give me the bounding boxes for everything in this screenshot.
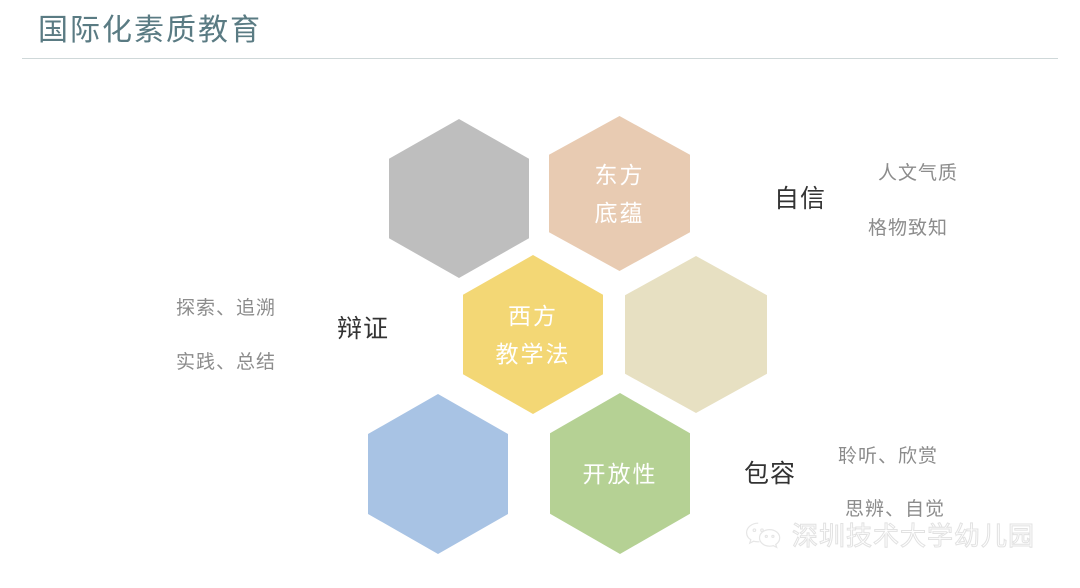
annotation-sub-listen-appreciate: 聆听、欣赏 — [838, 444, 938, 470]
hexagon-blue[interactable] — [368, 394, 508, 554]
annotation-sub-practice-summarize: 实践、总结 — [176, 350, 276, 376]
hexagon-label-line: 教学法 — [496, 335, 571, 373]
slide-canvas: 国际化素质教育 东方 底蕴 西方 教学法 开放性 自信 人文气质 格物致知 辩证… — [0, 0, 1080, 588]
annotation-sub-investigate-things: 格物致知 — [868, 216, 948, 242]
watermark: 深圳技术大学幼儿园 — [744, 519, 1035, 553]
hexagon-western-pedagogy[interactable]: 西方 教学法 — [463, 255, 603, 414]
hexagon-eastern-heritage[interactable]: 东方 底蕴 — [549, 116, 690, 271]
hexagon-beige[interactable] — [625, 256, 767, 413]
watermark-text: 深圳技术大学幼儿园 — [792, 519, 1035, 553]
annotation-keyword-confidence: 自信 — [774, 184, 826, 214]
hexagon-label-line: 西方 — [508, 297, 558, 335]
hexagon-gray[interactable] — [389, 119, 529, 278]
annotation-sub-humanistic-temperament: 人文气质 — [878, 161, 958, 187]
annotation-keyword-dialectic: 辩证 — [337, 314, 389, 344]
hexagon-openness[interactable]: 开放性 — [550, 393, 690, 554]
wechat-icon — [744, 520, 784, 552]
hexagon-label-line: 开放性 — [583, 455, 658, 493]
annotation-sub-explore-trace: 探索、追溯 — [176, 296, 276, 322]
hexagon-label-line: 底蕴 — [595, 194, 645, 232]
hexagon-label-line: 东方 — [595, 156, 645, 194]
annotation-keyword-inclusiveness: 包容 — [744, 459, 796, 489]
